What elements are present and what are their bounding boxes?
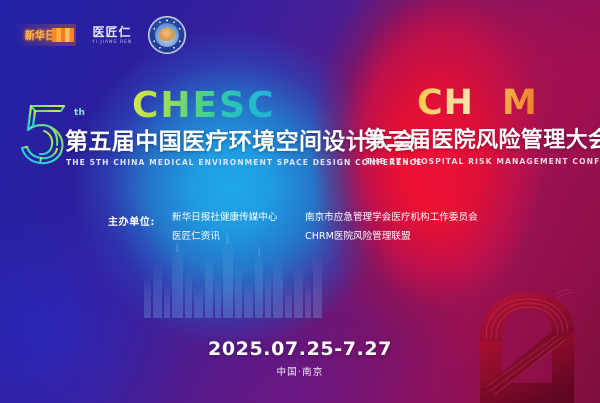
chrm-title-cn: 第二届医院风险管理大会: [364, 129, 600, 153]
chesc-acronym: CHESC: [132, 88, 276, 124]
event-date-block: 2025.07.25-7.27 中国·南京: [0, 340, 600, 378]
conference-titles: th CHESC 第五届中国医疗环境空间设计大会 THE 5TH CHINA M…: [0, 86, 600, 186]
chrm-acronym-part1: CH: [417, 83, 474, 123]
sponsor-logo-bar: 新华日报 医匠仁 YI JIANG REN: [14, 16, 186, 54]
yijiangren-logo-en: YI JIANG REN: [92, 40, 132, 44]
organizer-item: 南京市应急管理学会医疗机构工作委员会: [305, 213, 478, 223]
chrm-title-en: THE 2TH HOSPITAL RISK MANAGEMENT CONFERE…: [366, 157, 600, 166]
event-location: 中国·南京: [0, 368, 600, 378]
chesc-conference-block: th CHESC 第五届中国医疗环境空间设计大会 THE 5TH CHINA M…: [12, 86, 358, 186]
association-emblem-icon: [148, 16, 186, 54]
chrm-conference-block: CHRM 第二届医院风险管理大会 THE 2TH HOSPITAL RISK M…: [362, 86, 594, 186]
newspaper-logo-bars: [52, 28, 74, 42]
organizers-column-2: 南京市应急管理学会医疗机构工作委员会 CHRM医院风险管理联盟: [305, 213, 478, 250]
newspaper-logo: 新华日报: [14, 24, 76, 46]
chrm-acronym-part2: M: [502, 83, 538, 123]
organizers-column-1: 新华日报社健康传媒中心 医匠仁资讯: [172, 213, 278, 250]
yijiangren-logo: 医匠仁 YI JIANG REN: [92, 26, 132, 45]
organizers-label: 主办单位:: [108, 213, 155, 228]
organizer-item: 新华日报社健康传媒中心: [172, 213, 278, 223]
event-date: 2025.07.25-7.27: [0, 340, 600, 359]
yijiangren-logo-cn: 医匠仁: [93, 26, 132, 38]
conference-poster: 新华日报 医匠仁 YI JIANG REN: [0, 0, 600, 403]
organizer-item: 医匠仁资讯: [172, 232, 278, 242]
chrm-acronym: CHRM: [417, 86, 538, 121]
chrm-acronym-flipped-r: R: [474, 86, 502, 121]
organizer-item: CHRM医院风险管理联盟: [305, 232, 478, 242]
organizers-section: 主办单位: 新华日报社健康传媒中心 医匠仁资讯 南京市应急管理学会医疗机构工作委…: [0, 210, 600, 254]
ordinal-suffix: th: [74, 108, 85, 118]
emblem-center: [155, 23, 179, 47]
